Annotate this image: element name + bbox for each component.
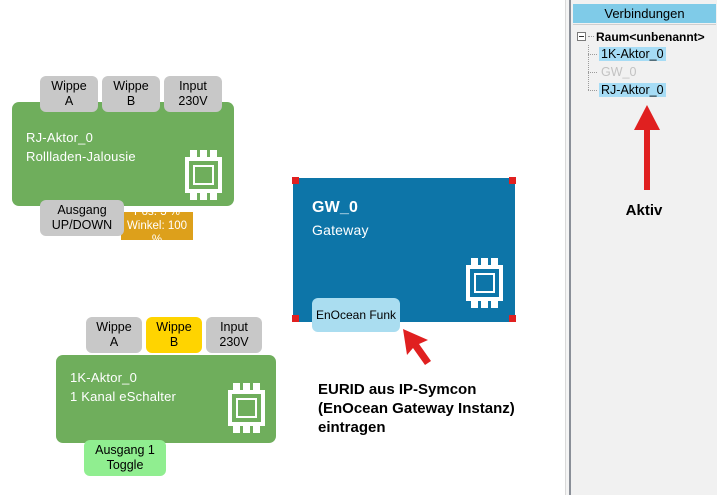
port-wippe-b[interactable]: Wippe B [146, 317, 202, 353]
gateway-title: GW_0 [312, 199, 358, 217]
connections-tree: Raum<unbenannt> 1K-Aktor_0 GW_0 RJ-Aktor… [575, 28, 717, 99]
annotation-eurid-note: EURID aus IP-Symcon (EnOcean Gateway Ins… [318, 380, 568, 437]
device-1k-aktor[interactable]: 1K-Aktor_0 1 Kanal eSchalter [56, 355, 276, 443]
selection-handle-top-right[interactable] [509, 177, 516, 184]
tree-item-label: GW_0 [599, 65, 638, 79]
tree-item-label: RJ-Aktor_0 [599, 83, 666, 97]
port-ausgang-updown[interactable]: Ausgang UP/DOWN [40, 200, 124, 236]
tree-item-label: 1K-Aktor_0 [599, 47, 666, 61]
device-subtitle: Rollladen-Jalousie [26, 149, 136, 164]
device-subtitle: 1 Kanal eSchalter [70, 389, 176, 404]
port-wippe-a[interactable]: Wippe A [40, 76, 98, 112]
device-rj-aktor[interactable]: RJ-Aktor_0 Rollladen-Jalousie [12, 102, 234, 206]
port-input-230v[interactable]: Input 230V [206, 317, 262, 353]
device-title: RJ-Aktor_0 [26, 130, 93, 145]
tree-item-gw[interactable]: GW_0 [588, 63, 717, 81]
tree-connector [588, 36, 594, 37]
tree-item-rj-aktor[interactable]: RJ-Aktor_0 [588, 81, 717, 99]
port-wippe-a[interactable]: Wippe A [86, 317, 142, 353]
arrow-to-tree-item [633, 105, 663, 190]
chip-icon [180, 150, 226, 200]
collapse-icon[interactable] [577, 32, 586, 41]
gateway-subtitle: Gateway [312, 222, 369, 238]
tree-connector [588, 54, 597, 55]
port-ausgang-1-toggle[interactable]: Ausgang 1 Toggle [84, 440, 166, 476]
tree-item-1k-aktor[interactable]: 1K-Aktor_0 [588, 45, 717, 63]
selection-handle-bottom-right[interactable] [509, 315, 516, 322]
port-enocean-funk[interactable]: EnOcean Funk [312, 298, 400, 332]
chip-icon [223, 383, 269, 433]
annotation-aktiv-note: Aktiv [571, 202, 717, 219]
tree-root-label: Raum<unbenannt> [596, 30, 705, 44]
tree-children: 1K-Aktor_0 GW_0 RJ-Aktor_0 [575, 45, 717, 99]
canvas-root: RJ-Aktor_0 Rollladen-Jalousie Wippe A Wi… [0, 0, 717, 495]
tree-root-row[interactable]: Raum<unbenannt> [575, 28, 717, 45]
port-input-230v[interactable]: Input 230V [164, 76, 222, 112]
tree-connector [588, 72, 597, 73]
chip-icon [461, 258, 507, 308]
panel-divider-outer [565, 0, 566, 495]
panel-header-divider [573, 24, 716, 25]
connections-panel: Verbindungen Raum<unbenannt> 1K-Aktor_0 … [571, 0, 717, 495]
selection-handle-bottom-left[interactable] [292, 315, 299, 322]
device-title: 1K-Aktor_0 [70, 370, 137, 385]
port-wippe-b[interactable]: Wippe B [102, 76, 160, 112]
tree-connector [588, 90, 597, 91]
arrow-to-enocean-funk [398, 325, 460, 367]
panel-header-title: Verbindungen [573, 4, 716, 23]
status-badge-position: Pos: 3 % Winkel: 100 % [121, 212, 193, 240]
selection-handle-top-left[interactable] [292, 177, 299, 184]
